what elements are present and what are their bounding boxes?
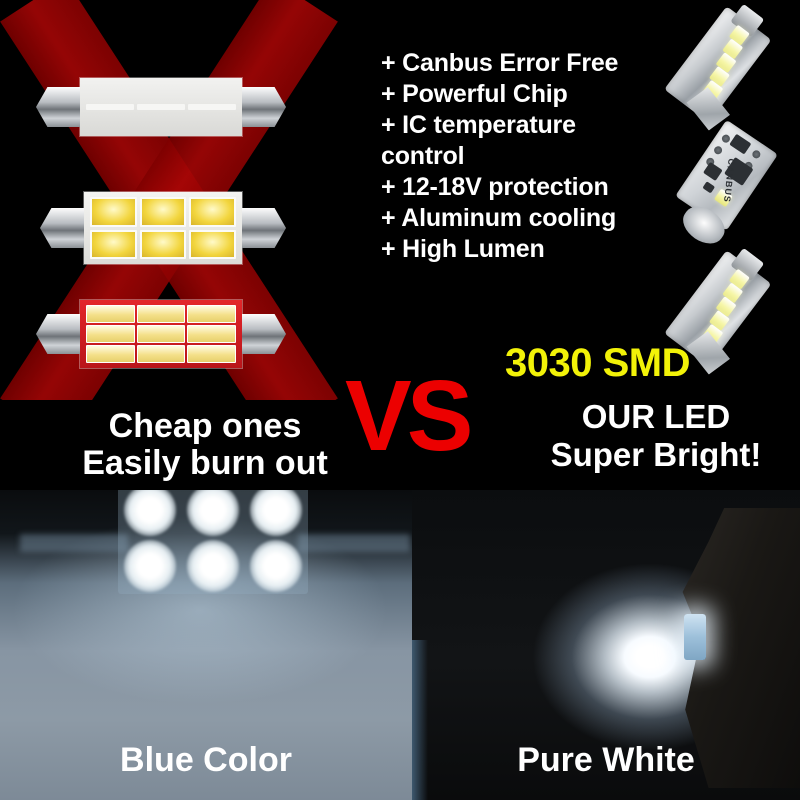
smd-chip bbox=[187, 325, 236, 343]
bulb-rod-left bbox=[20, 534, 128, 552]
lit-led-bulb bbox=[684, 614, 706, 660]
our-led-headline: OUR LED Super Bright! bbox=[512, 398, 800, 473]
smd-chip bbox=[137, 305, 186, 323]
smd-chip bbox=[188, 104, 236, 110]
smd-chip bbox=[189, 230, 236, 260]
feature-item-canbus: + Canbus Error Free bbox=[381, 48, 691, 79]
smd-chip bbox=[137, 325, 186, 343]
bulb-end-cap-left bbox=[40, 208, 84, 248]
smd-chip bbox=[187, 305, 236, 323]
product-comparison-image: + Canbus Error Free + Powerful Chip + IC… bbox=[0, 0, 800, 800]
lit-bulb-6-led bbox=[118, 490, 308, 594]
feature-item-cooling: + Aluminum cooling bbox=[381, 203, 691, 234]
smd-chip bbox=[189, 197, 236, 227]
smd-chip bbox=[137, 104, 185, 110]
smd-chip bbox=[86, 325, 135, 343]
photo-caption-blue-color: Blue Color bbox=[0, 741, 412, 780]
our-headline-line2: Super Bright! bbox=[512, 436, 800, 474]
glowing-led-dot bbox=[124, 540, 176, 592]
our-headline-line1: OUR LED bbox=[512, 398, 800, 436]
smd-chip bbox=[86, 345, 135, 363]
glowing-led-dot bbox=[187, 490, 239, 536]
bulb-rod-right bbox=[298, 534, 410, 552]
smd-chip bbox=[137, 345, 186, 363]
feature-item-voltage: + 12-18V protection bbox=[381, 172, 691, 203]
cheap-headline-line2: Easily burn out bbox=[40, 445, 370, 482]
smd-chip bbox=[90, 230, 137, 260]
bulb-end-cap-right bbox=[242, 87, 286, 127]
smd-chip bbox=[90, 197, 137, 227]
bulb-pcb bbox=[80, 78, 242, 136]
glowing-led-dot bbox=[250, 540, 302, 592]
feature-item-ic-temp: + IC temperature control bbox=[381, 110, 691, 172]
feature-item-chip: + Powerful Chip bbox=[381, 79, 691, 110]
smd-chip bbox=[86, 305, 135, 323]
smd-type-label: 3030 SMD bbox=[505, 341, 690, 386]
photo-caption-pure-white: Pure White bbox=[412, 741, 800, 780]
cheap-headline: Cheap ones Easily burn out bbox=[40, 408, 370, 481]
glowing-led-dot bbox=[187, 540, 239, 592]
bulb-pcb bbox=[84, 192, 242, 264]
feature-list: + Canbus Error Free + Powerful Chip + IC… bbox=[381, 48, 691, 265]
smd-chip bbox=[140, 197, 187, 227]
photo-white-light-demo: Pure White bbox=[412, 490, 800, 800]
cheap-bulb-3chip bbox=[36, 78, 286, 136]
bulb-pcb-red bbox=[80, 300, 242, 368]
cheap-headline-line1: Cheap ones bbox=[40, 408, 370, 445]
bulb-end-cap-left bbox=[36, 314, 80, 354]
bulb-end-cap-left bbox=[36, 87, 80, 127]
bulb-end-cap-right bbox=[242, 314, 286, 354]
smd-chip bbox=[187, 345, 236, 363]
glowing-led-dot bbox=[250, 490, 302, 536]
smd-chip bbox=[140, 230, 187, 260]
feature-item-lumen: + High Lumen bbox=[381, 234, 691, 265]
bulb-end-cap-right bbox=[242, 208, 286, 248]
glowing-led-dot bbox=[124, 490, 176, 536]
photo-blue-light-demo: Blue Color bbox=[0, 490, 412, 800]
top-comparison-panel: + Canbus Error Free + Powerful Chip + IC… bbox=[0, 0, 800, 400]
smd-chip bbox=[86, 104, 134, 110]
cheap-bulb-9chip bbox=[36, 300, 286, 368]
cheap-bulb-6chip bbox=[40, 192, 286, 264]
